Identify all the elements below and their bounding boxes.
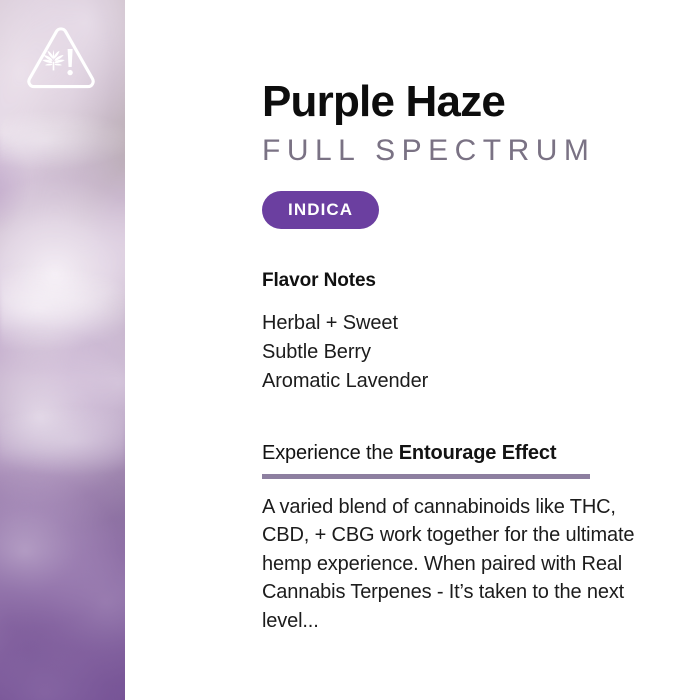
flavor-notes-list: Herbal + Sweet Subtle Berry Aromatic Lav… [262, 309, 700, 397]
accent-divider [262, 474, 590, 479]
product-image-panel [0, 0, 125, 700]
flavor-note-item: Aromatic Lavender [262, 367, 700, 396]
strain-type-badge[interactable]: INDICA [262, 191, 379, 229]
flavor-note-item: Subtle Berry [262, 338, 700, 367]
entourage-body-copy: A varied blend of cannabinoids like THC,… [262, 493, 650, 636]
badge-row: INDICA [262, 191, 700, 229]
entourage-emphasis-text: Entourage Effect [399, 442, 557, 464]
product-card: Purple Haze FULL SPECTRUM INDICA Flavor … [0, 0, 700, 700]
entourage-heading: Experience the Entourage Effect [262, 442, 700, 465]
image-backdrop [0, 0, 125, 700]
product-details: Purple Haze FULL SPECTRUM INDICA Flavor … [125, 0, 700, 700]
product-title: Purple Haze [262, 78, 700, 126]
product-subtitle: FULL SPECTRUM [262, 132, 700, 170]
entourage-lead-text: Experience the [262, 442, 399, 464]
flavor-note-item: Herbal + Sweet [262, 309, 700, 338]
flavor-notes-heading: Flavor Notes [262, 270, 700, 292]
cannabis-warning-icon [22, 24, 100, 96]
